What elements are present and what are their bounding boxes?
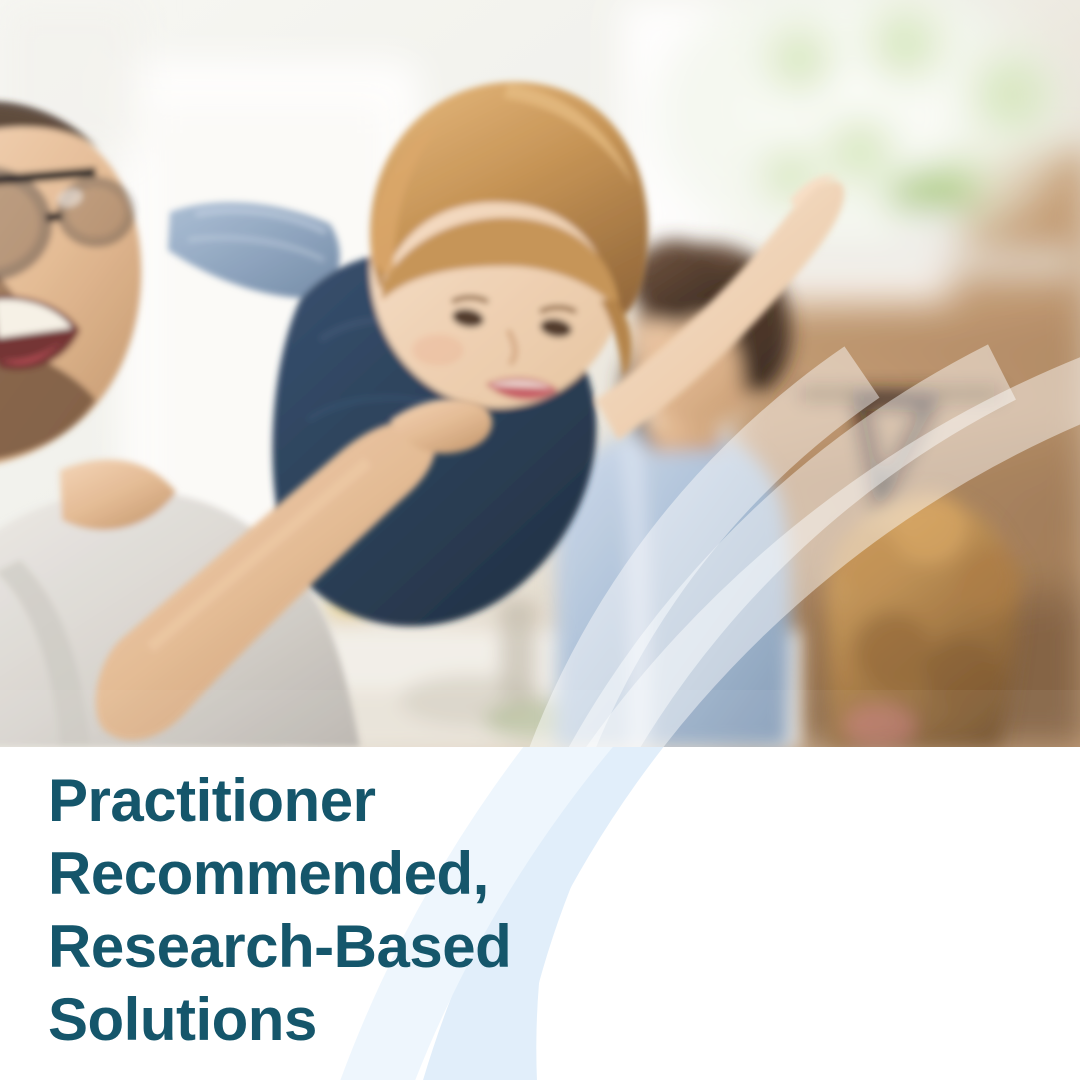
headline: Practitioner Recommended, Research-Based…	[48, 764, 648, 1056]
promo-canvas: Practitioner Recommended, Research-Based…	[0, 0, 1080, 1080]
headline-line-3: Research-Based	[48, 910, 648, 983]
headline-line-4: Solutions	[48, 983, 648, 1056]
headline-line-1: Practitioner	[48, 764, 648, 837]
hero-photo	[0, 0, 1080, 747]
headline-line-2: Recommended,	[48, 837, 648, 910]
